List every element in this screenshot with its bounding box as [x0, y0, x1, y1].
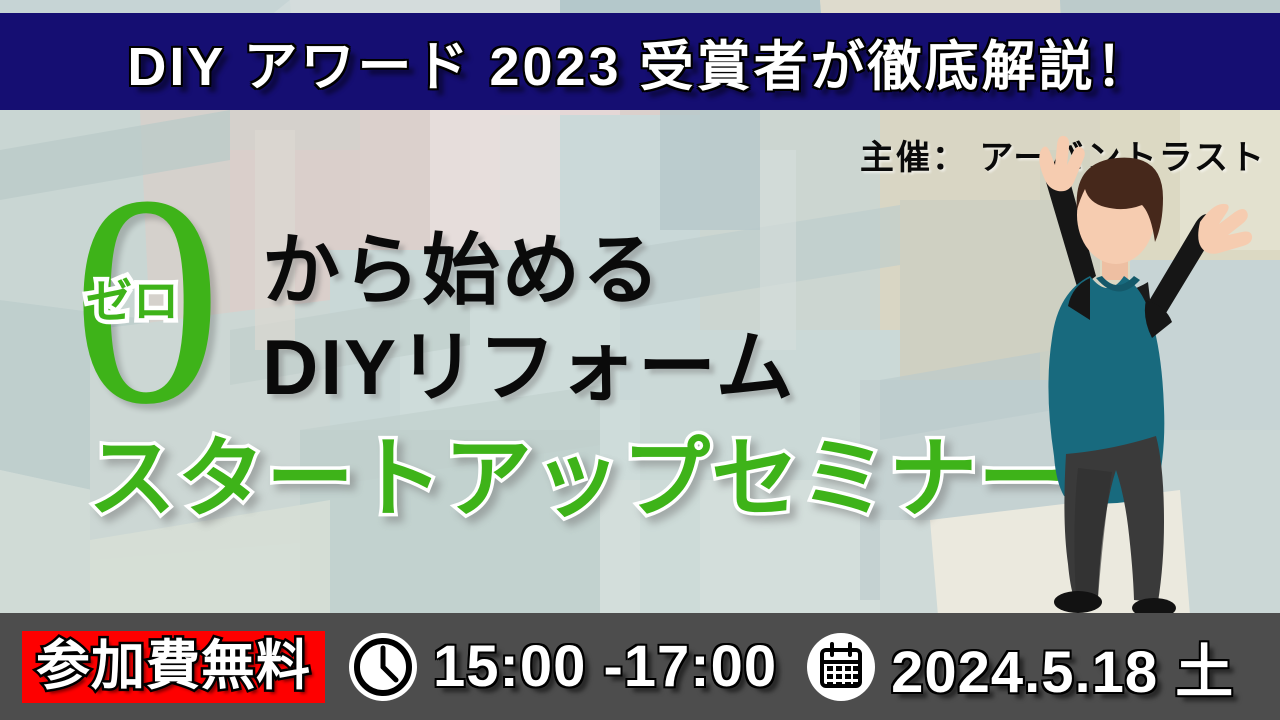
- zero-ruby-label: ゼロ: [86, 265, 180, 331]
- header-banner: DIY アワード 2023 受賞者が徹底解説！: [0, 13, 1280, 110]
- headline-line-1: から始める: [262, 208, 662, 320]
- footer-info-bar: 参加費無料 15:00 -17:00: [0, 613, 1280, 720]
- event-date: 2024.5.18 土: [891, 625, 1234, 709]
- headline-line-2: DIYリフォーム: [262, 305, 796, 417]
- promo-banner: DIY アワード 2023 受賞者が徹底解説！ 主催： アーバントラスト 0 ゼ…: [0, 0, 1280, 720]
- zero-mark: 0 ゼロ: [72, 170, 272, 430]
- event-time: 15:00 -17:00: [433, 633, 777, 700]
- headline-block: 0 ゼロ から始める DIYリフォーム スタートアップセミナー: [0, 150, 1000, 540]
- calendar-icon: [805, 631, 877, 703]
- headline-line-3: スタートアップセミナー: [88, 408, 1067, 535]
- free-admission-text: 参加費無料: [36, 639, 311, 693]
- clock-icon: [347, 631, 419, 703]
- header-banner-text: DIY アワード 2023 受賞者が徹底解説！: [127, 22, 1152, 101]
- cheering-businessman-illustration: [950, 110, 1280, 615]
- free-admission-badge: 参加費無料: [22, 631, 325, 703]
